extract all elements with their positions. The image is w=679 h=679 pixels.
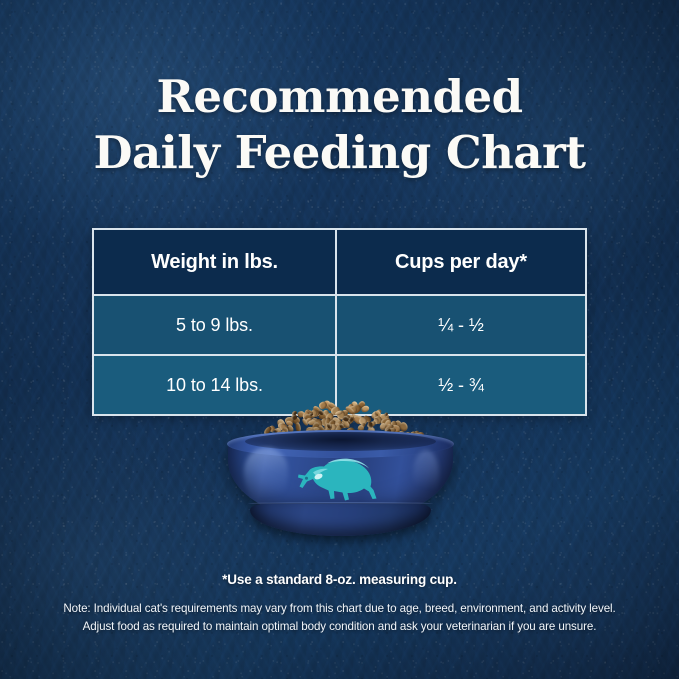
kibble-piece <box>360 405 370 414</box>
bowl-highlight-right <box>413 450 439 498</box>
disclaimer-note: Note: Individual cat's requirements may … <box>0 600 679 636</box>
note-line-1: Note: Individual cat's requirements may … <box>0 600 679 618</box>
title-line-2: Daily Feeding Chart <box>0 130 679 175</box>
header-cell-cups: Cups per day* <box>337 230 585 294</box>
measuring-cup-footnote: *Use a standard 8-oz. measuring cup. <box>0 572 679 587</box>
bowl <box>228 428 453 538</box>
title-line-1: Recommended <box>0 74 679 119</box>
header-cell-weight: Weight in lbs. <box>94 230 337 294</box>
bowl-base <box>250 504 431 536</box>
feeding-chart-page: Recommended Daily Feeding Chart Weight i… <box>0 0 679 679</box>
note-line-2: Adjust food as required to maintain opti… <box>0 618 679 636</box>
cell-weight-row1: 5 to 9 lbs. <box>94 296 337 354</box>
table-row: 5 to 9 lbs. ¼ - ½ <box>94 294 585 354</box>
bison-icon <box>294 458 386 506</box>
dog-food-bowl-image <box>228 392 453 540</box>
table-header-row: Weight in lbs. Cups per day* <box>94 230 585 294</box>
cell-cups-row1: ¼ - ½ <box>337 296 585 354</box>
feeding-table: Weight in lbs. Cups per day* 5 to 9 lbs.… <box>92 228 587 416</box>
page-title: Recommended Daily Feeding Chart <box>0 74 679 175</box>
